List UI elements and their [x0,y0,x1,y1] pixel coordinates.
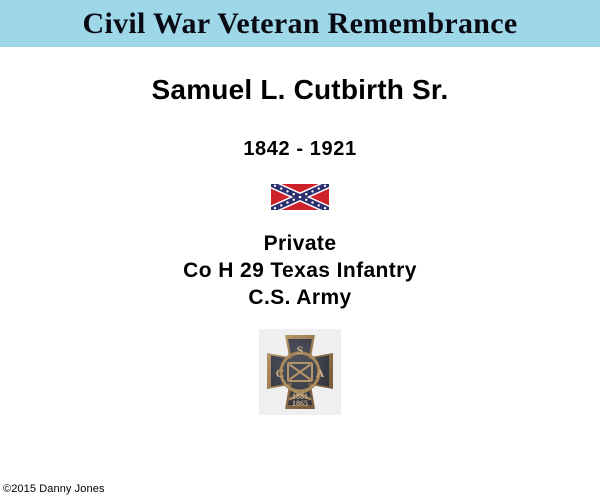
copyright-notice: ©2015 Danny Jones [3,484,105,495]
medal-frame: S C A 1861 1865 [259,329,341,415]
veteran-name: Samuel L. Cutbirth Sr. [0,47,600,106]
medal-wrapper: S C A 1861 1865 [0,329,600,415]
battle-flag-wrapper [0,184,600,211]
medal-year-end: 1865 [292,399,308,408]
medal-letter-top: S [297,343,304,357]
veteran-army: C.S. Army [0,285,600,312]
southern-cross-of-honor-icon: S C A 1861 1865 [259,329,341,415]
veteran-rank: Private [0,231,600,258]
medal-letter-right: A [316,366,325,380]
memorial-body: Samuel L. Cutbirth Sr. 1842 - 1921 [0,47,600,500]
page-title: Civil War Veteran Remembrance [82,9,517,39]
veteran-life-dates: 1842 - 1921 [0,106,600,160]
medal-letter-left: C [276,366,285,380]
confederate-battle-flag-icon [271,184,329,210]
veteran-unit: Co H 29 Texas Infantry [0,258,600,285]
header-banner: Civil War Veteran Remembrance [0,0,600,47]
service-details: Private Co H 29 Texas Infantry C.S. Army [0,231,600,312]
